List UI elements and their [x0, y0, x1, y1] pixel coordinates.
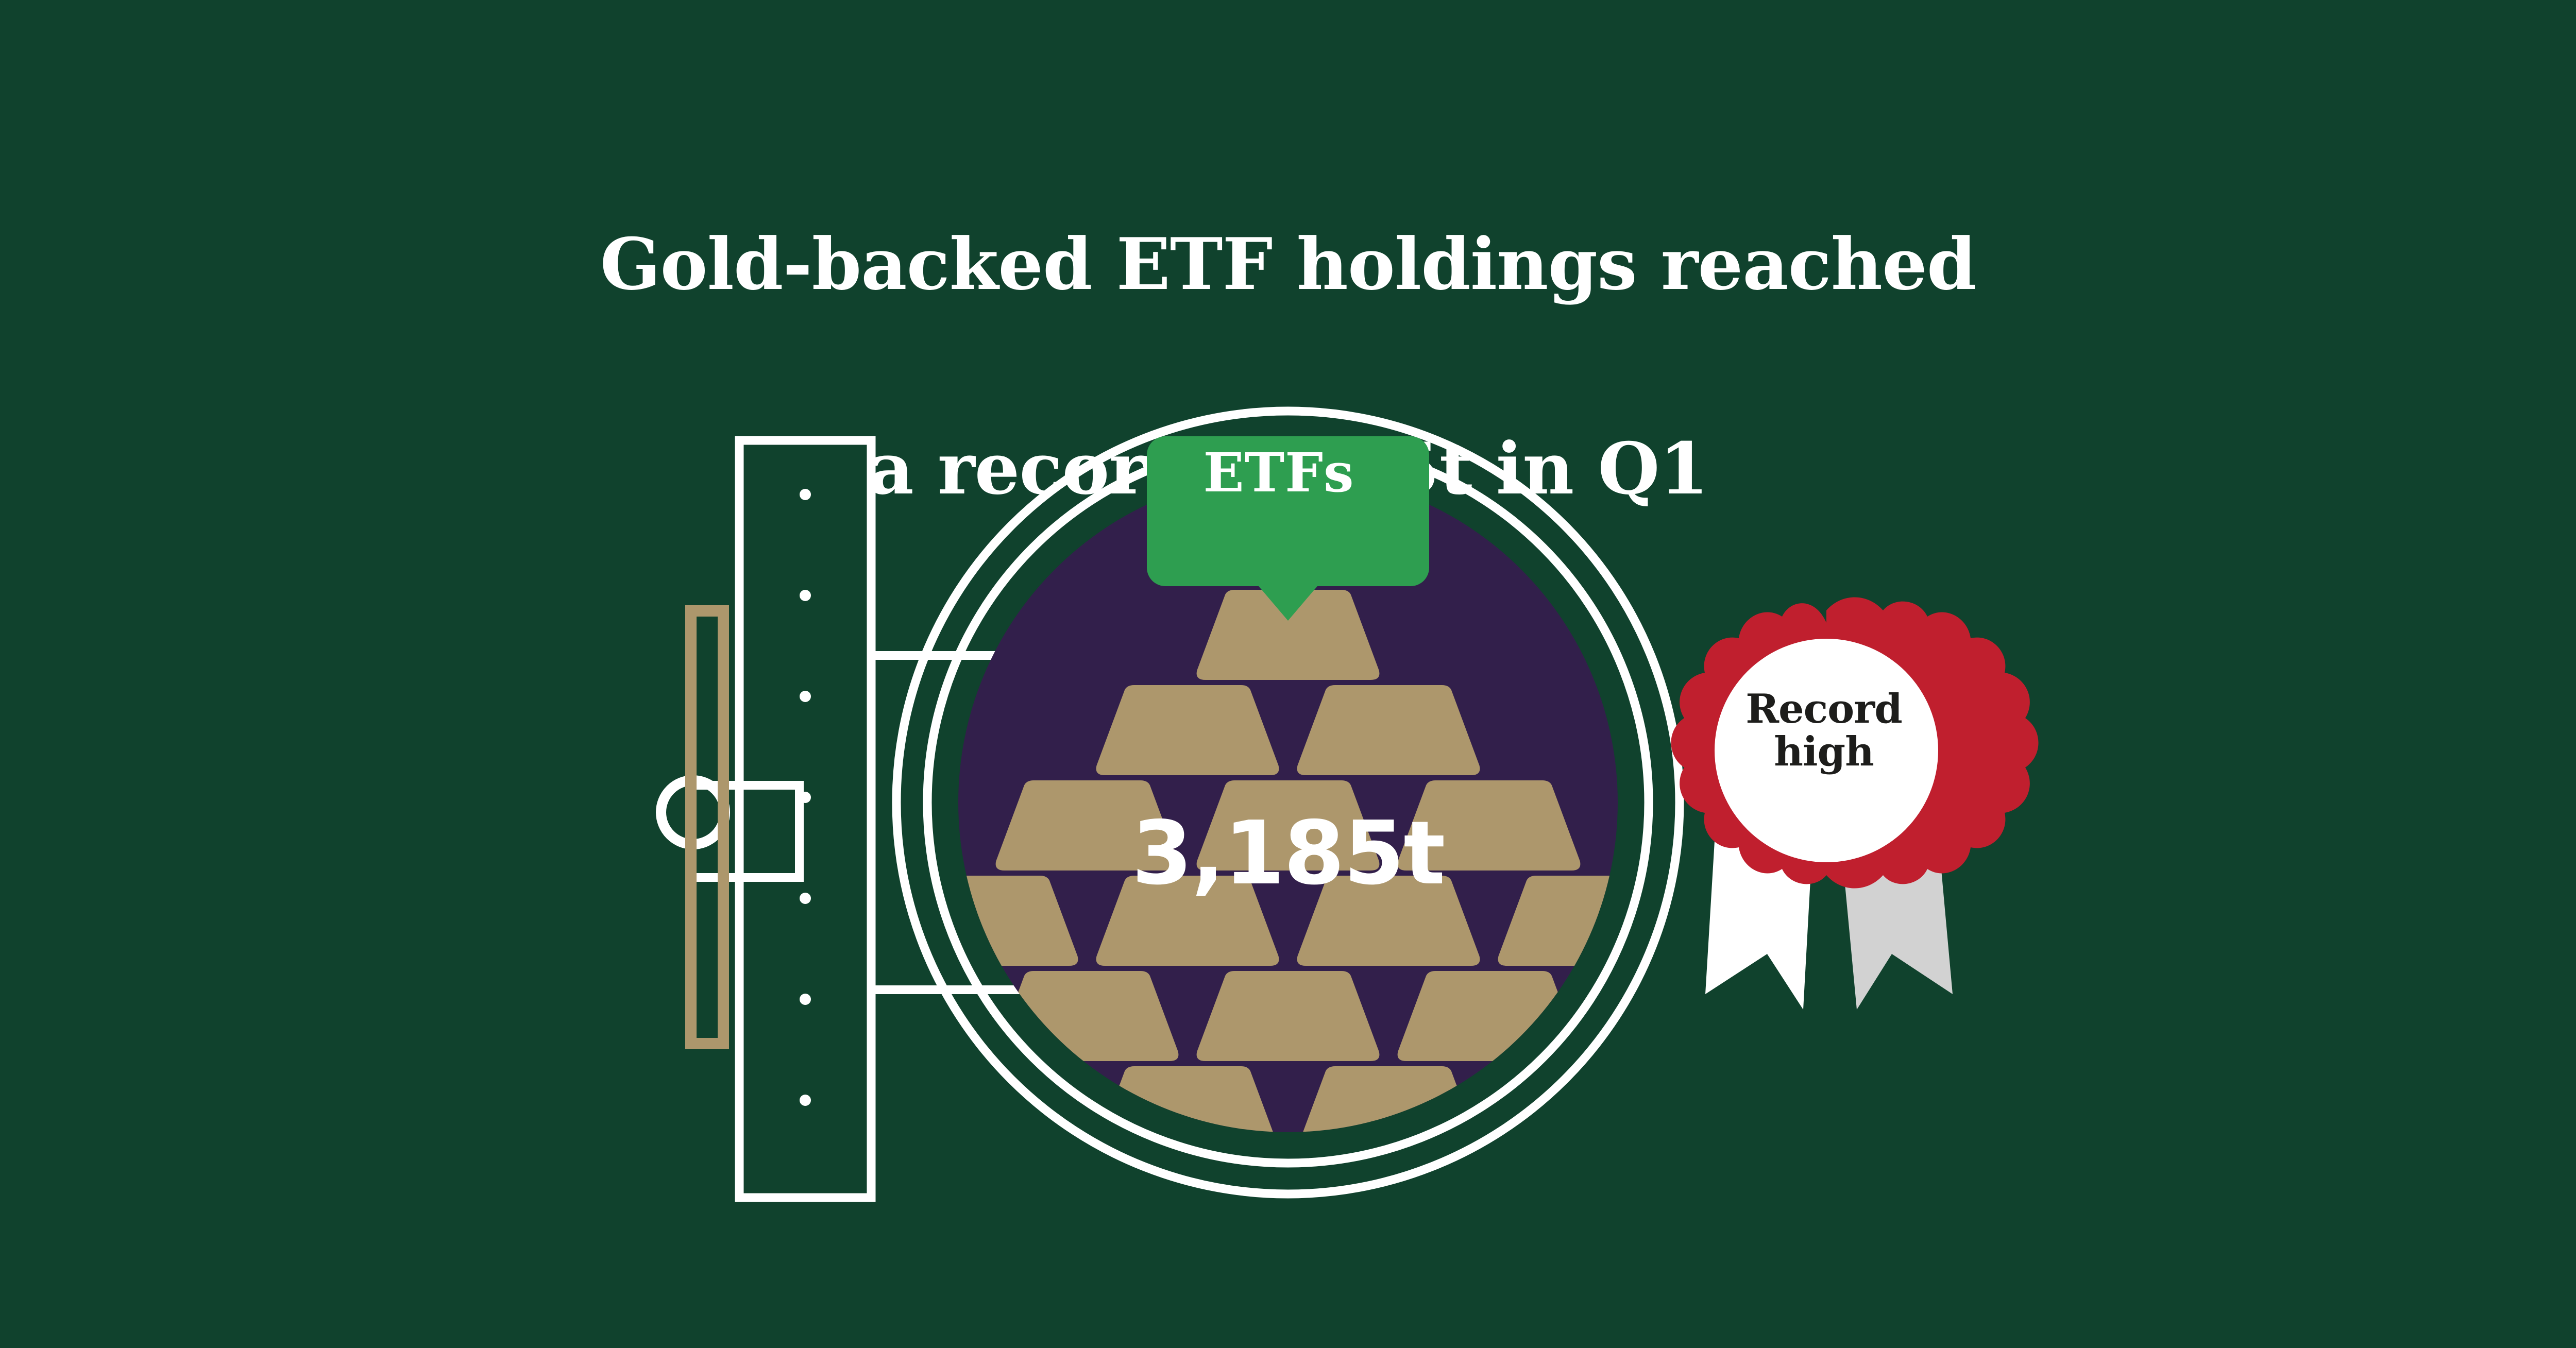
vault-illustration: [0, 0, 2576, 1348]
record-high-rosette: [1671, 598, 2039, 1010]
record-high-badge-label: Record high: [1695, 688, 1953, 774]
vault-handle-bar: [691, 611, 723, 1044]
vault-handle-crossbar: [693, 781, 804, 882]
infographic-canvas: Gold-backed ETF holdings reached a recor…: [0, 0, 2576, 1348]
vault-hinge-plate: [739, 440, 871, 1198]
badge-line-2: high: [1695, 730, 1953, 773]
etfs-callout-label: ETFs: [1150, 446, 1408, 500]
badge-line-1: Record: [1695, 688, 1953, 730]
gold-tonnage-value: 3,185t: [1030, 810, 1546, 897]
